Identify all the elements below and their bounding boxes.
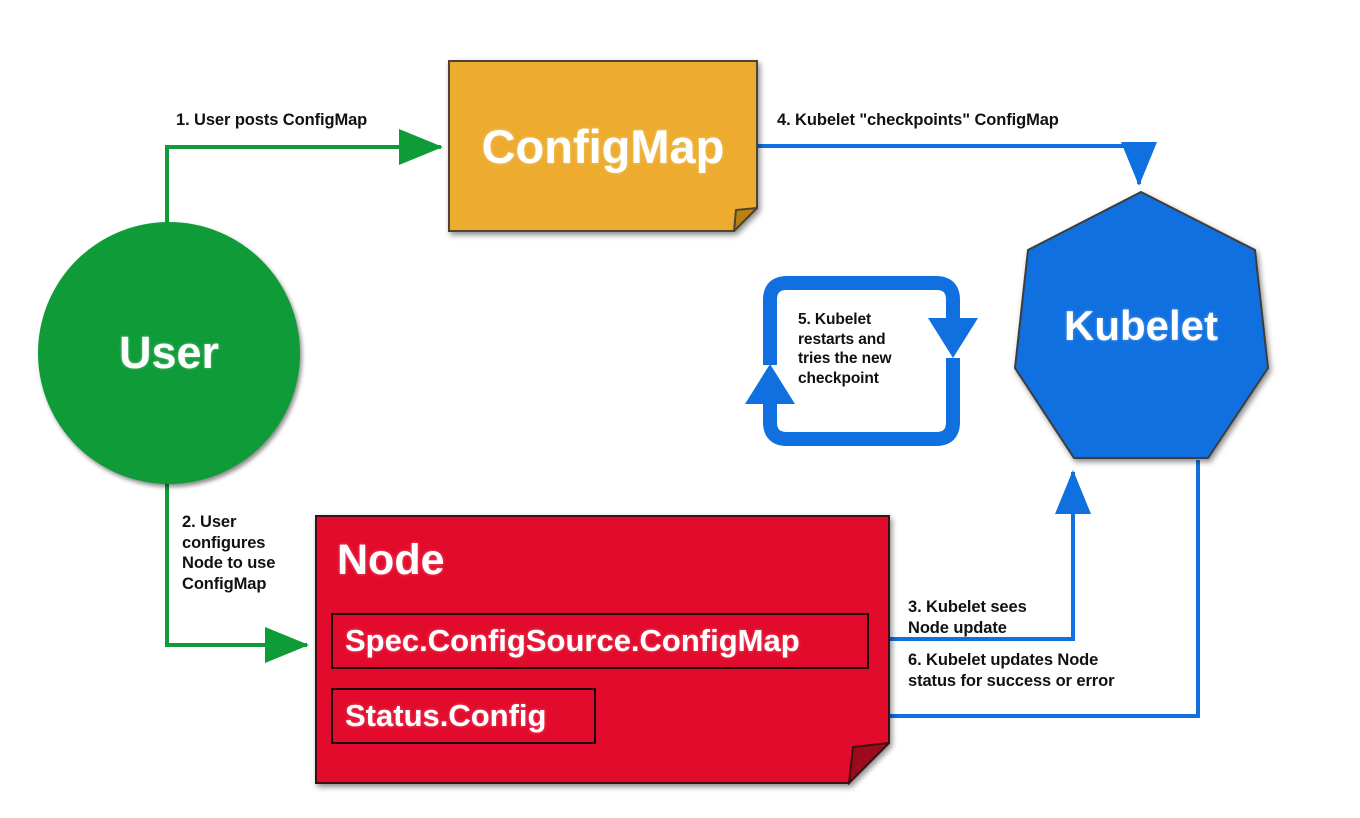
edge-step4-configmap-to-kubelet	[758, 146, 1139, 184]
node-user[interactable]	[38, 222, 300, 484]
node-kubelet[interactable]	[1012, 190, 1270, 462]
step-1-label: 1. User posts ConfigMap	[176, 110, 367, 131]
step-2-label: 2. User configures Node to use ConfigMap	[182, 512, 275, 594]
step-4-label: 4. Kubelet "checkpoints" ConfigMap	[777, 110, 1059, 131]
step-6-label: 6. Kubelet updates Node status for succe…	[908, 650, 1114, 691]
step-3-label: 3. Kubelet sees Node update	[908, 597, 1027, 638]
node-configmap[interactable]	[448, 60, 758, 232]
node-field-status-config[interactable]: Status.Config	[331, 688, 596, 744]
diagram-canvas: User ConfigMap Kubelet Node Spec.ConfigS…	[0, 0, 1360, 818]
step-5-label: 5. Kubelet restarts and tries the new ch…	[798, 310, 891, 388]
node-field-spec-configsource-configmap[interactable]: Spec.ConfigSource.ConfigMap	[331, 613, 869, 669]
